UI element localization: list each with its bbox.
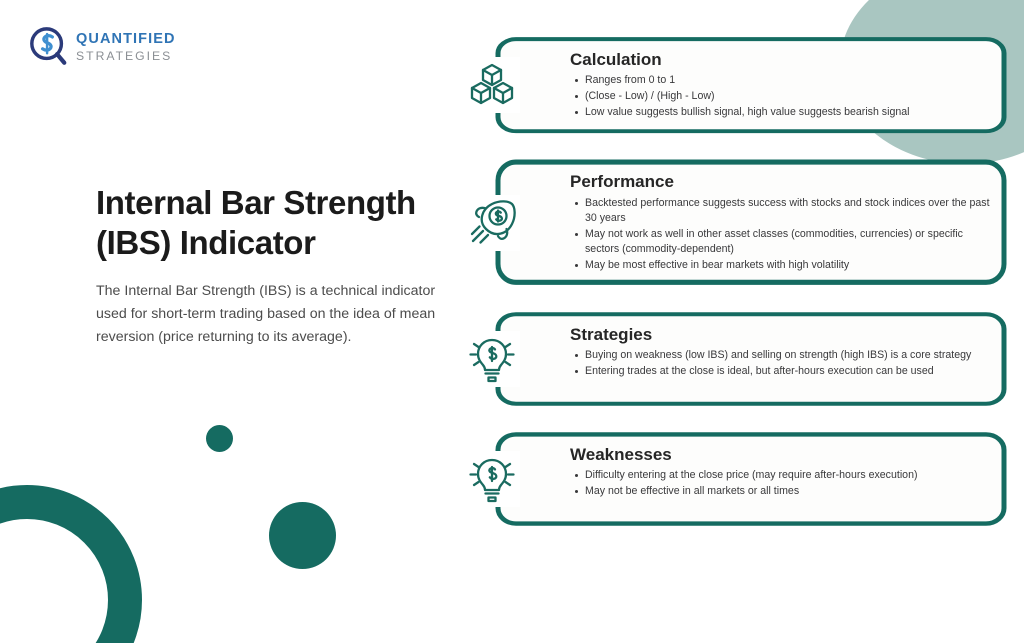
card-calculation: Calculation Ranges from 0 to 1 (Close - … [468,36,1008,134]
card-performance: Performance Backtested performance sugge… [468,158,1008,286]
cubes-icon [464,57,520,113]
brand-name-line2: STRATEGIES [76,50,176,62]
teal-dot-medium-decoration [269,502,336,569]
card-body: Strategies Buying on weakness (low IBS) … [494,311,1008,407]
list-item: May not be effective in all markets or a… [585,484,990,499]
card-weaknesses: Weaknesses Difficulty entering at the cl… [468,431,1008,527]
list-item: Ranges from 0 to 1 [585,73,990,88]
list-item: Difficulty entering at the close price (… [585,468,990,483]
card-title: Calculation [570,49,990,70]
list-item: May be most effective in bear markets wi… [585,258,990,273]
cards-column: Calculation Ranges from 0 to 1 (Close - … [468,36,1008,527]
brand-wordmark: QUANTIFIED STRATEGIES [76,32,176,62]
card-bullet-list: Buying on weakness (low IBS) and selling… [570,348,990,379]
rocket-dollar-icon [464,195,520,251]
card-strategies: Strategies Buying on weakness (low IBS) … [468,311,1008,407]
card-title: Strategies [570,324,990,345]
card-title: Weaknesses [570,444,990,465]
list-item: Backtested performance suggests success … [585,196,990,226]
list-item: Buying on weakness (low IBS) and selling… [585,348,990,363]
brand-logo: QUANTIFIED STRATEGIES [28,26,176,68]
card-title: Performance [570,171,990,192]
infographic-page: QUANTIFIED STRATEGIES Internal Bar Stren… [0,0,1024,643]
list-item: Low value suggests bullish signal, high … [585,105,990,120]
card-body: Calculation Ranges from 0 to 1 (Close - … [494,36,1008,134]
teal-ring-decoration [0,485,142,643]
magnifier-s-logo-icon [28,26,70,68]
list-item: (Close - Low) / (High - Low) [585,89,990,104]
card-bullet-list: Backtested performance suggests success … [570,196,990,273]
teal-dot-small-decoration [206,425,233,452]
brand-name-line1: QUANTIFIED [76,32,176,47]
card-body: Performance Backtested performance sugge… [494,158,1008,286]
page-subtitle: The Internal Bar Strength (IBS) is a tec… [96,280,444,349]
lightbulb-dollar-icon [464,451,520,507]
list-item: May not work as well in other asset clas… [585,227,990,257]
list-item: Entering trades at the close is ideal, b… [585,364,990,379]
card-bullet-list: Ranges from 0 to 1 (Close - Low) / (High… [570,73,990,120]
hero-section: Internal Bar Strength (IBS) Indicator Th… [96,183,444,349]
page-title: Internal Bar Strength (IBS) Indicator [96,183,444,264]
card-body: Weaknesses Difficulty entering at the cl… [494,431,1008,527]
card-bullet-list: Difficulty entering at the close price (… [570,468,990,499]
lightbulb-dollar-icon [464,331,520,387]
